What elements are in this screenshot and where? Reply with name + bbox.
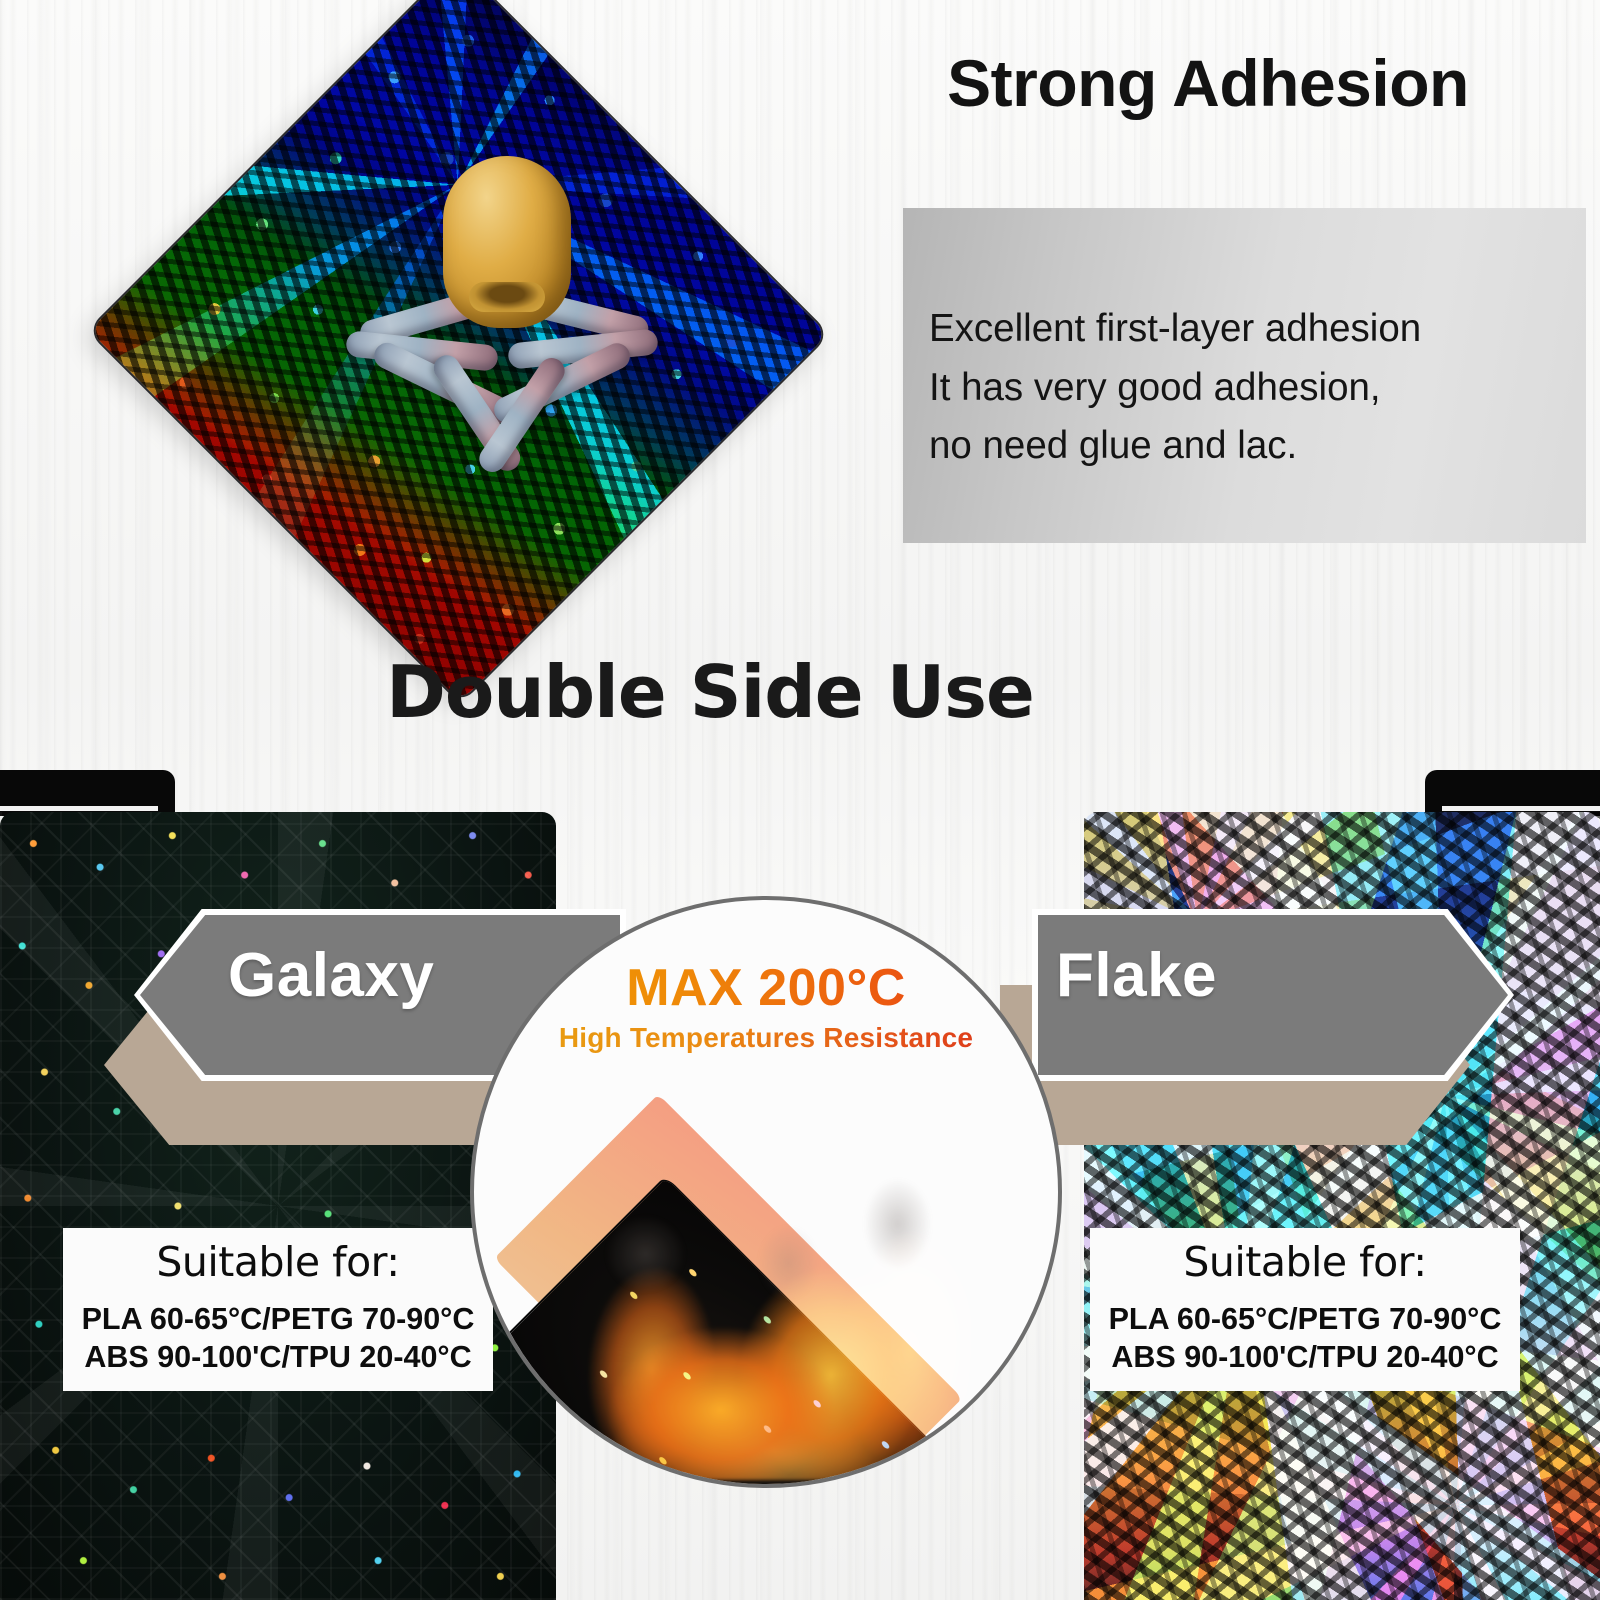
- octopus-head: [443, 156, 571, 328]
- adhesion-line-2: It has very good adhesion,: [929, 359, 1576, 418]
- strong-adhesion-heading: Strong Adhesion: [898, 48, 1518, 119]
- adhesion-description-text: Excellent first-layer adhesion It has ve…: [929, 300, 1576, 476]
- product-infographic: Strong Adhesion Excellent first-layer ad…: [0, 0, 1600, 1600]
- adhesion-line-3: no need glue and lac.: [929, 417, 1576, 476]
- plate-tab-highlight: [1442, 806, 1600, 811]
- flake-build-plate: [1084, 770, 1600, 1600]
- heat-resistance-subtitle: High Temperatures Resistance: [474, 1022, 1058, 1054]
- octopus-print-icon: [338, 156, 658, 486]
- suitable-line: ABS 90-100'C/TPU 20-40°C: [71, 1339, 485, 1377]
- suitable-line: PLA 60-65°C/PETG 70-90°C: [71, 1301, 485, 1339]
- flake-suitable-for-box: Suitable for: PLA 60-65°C/PETG 70-90°C A…: [1090, 1228, 1520, 1391]
- suitable-for-title: Suitable for:: [1098, 1238, 1512, 1287]
- galaxy-suitable-for-box: Suitable for: PLA 60-65°C/PETG 70-90°C A…: [63, 1228, 493, 1391]
- flake-arrow-label: Flake: [1056, 940, 1416, 1011]
- suitable-line: ABS 90-100'C/TPU 20-40°C: [1098, 1339, 1512, 1377]
- flame-icon: [578, 1230, 977, 1480]
- heat-resistance-badge: MAX 200°C High Temperatures Resistance: [470, 896, 1062, 1488]
- adhesion-line-1: Excellent first-layer adhesion: [929, 300, 1576, 359]
- hero-build-plate-photo: [8, 128, 908, 638]
- double-side-use-heading: Double Side Use: [330, 655, 1090, 731]
- plate-tab-highlight: [0, 806, 158, 811]
- suitable-for-title: Suitable for:: [71, 1238, 485, 1287]
- adhesion-description-panel: Excellent first-layer adhesion It has ve…: [903, 208, 1586, 543]
- suitable-line: PLA 60-65°C/PETG 70-90°C: [1098, 1301, 1512, 1339]
- max-temperature-label: MAX 200°C: [474, 958, 1058, 1018]
